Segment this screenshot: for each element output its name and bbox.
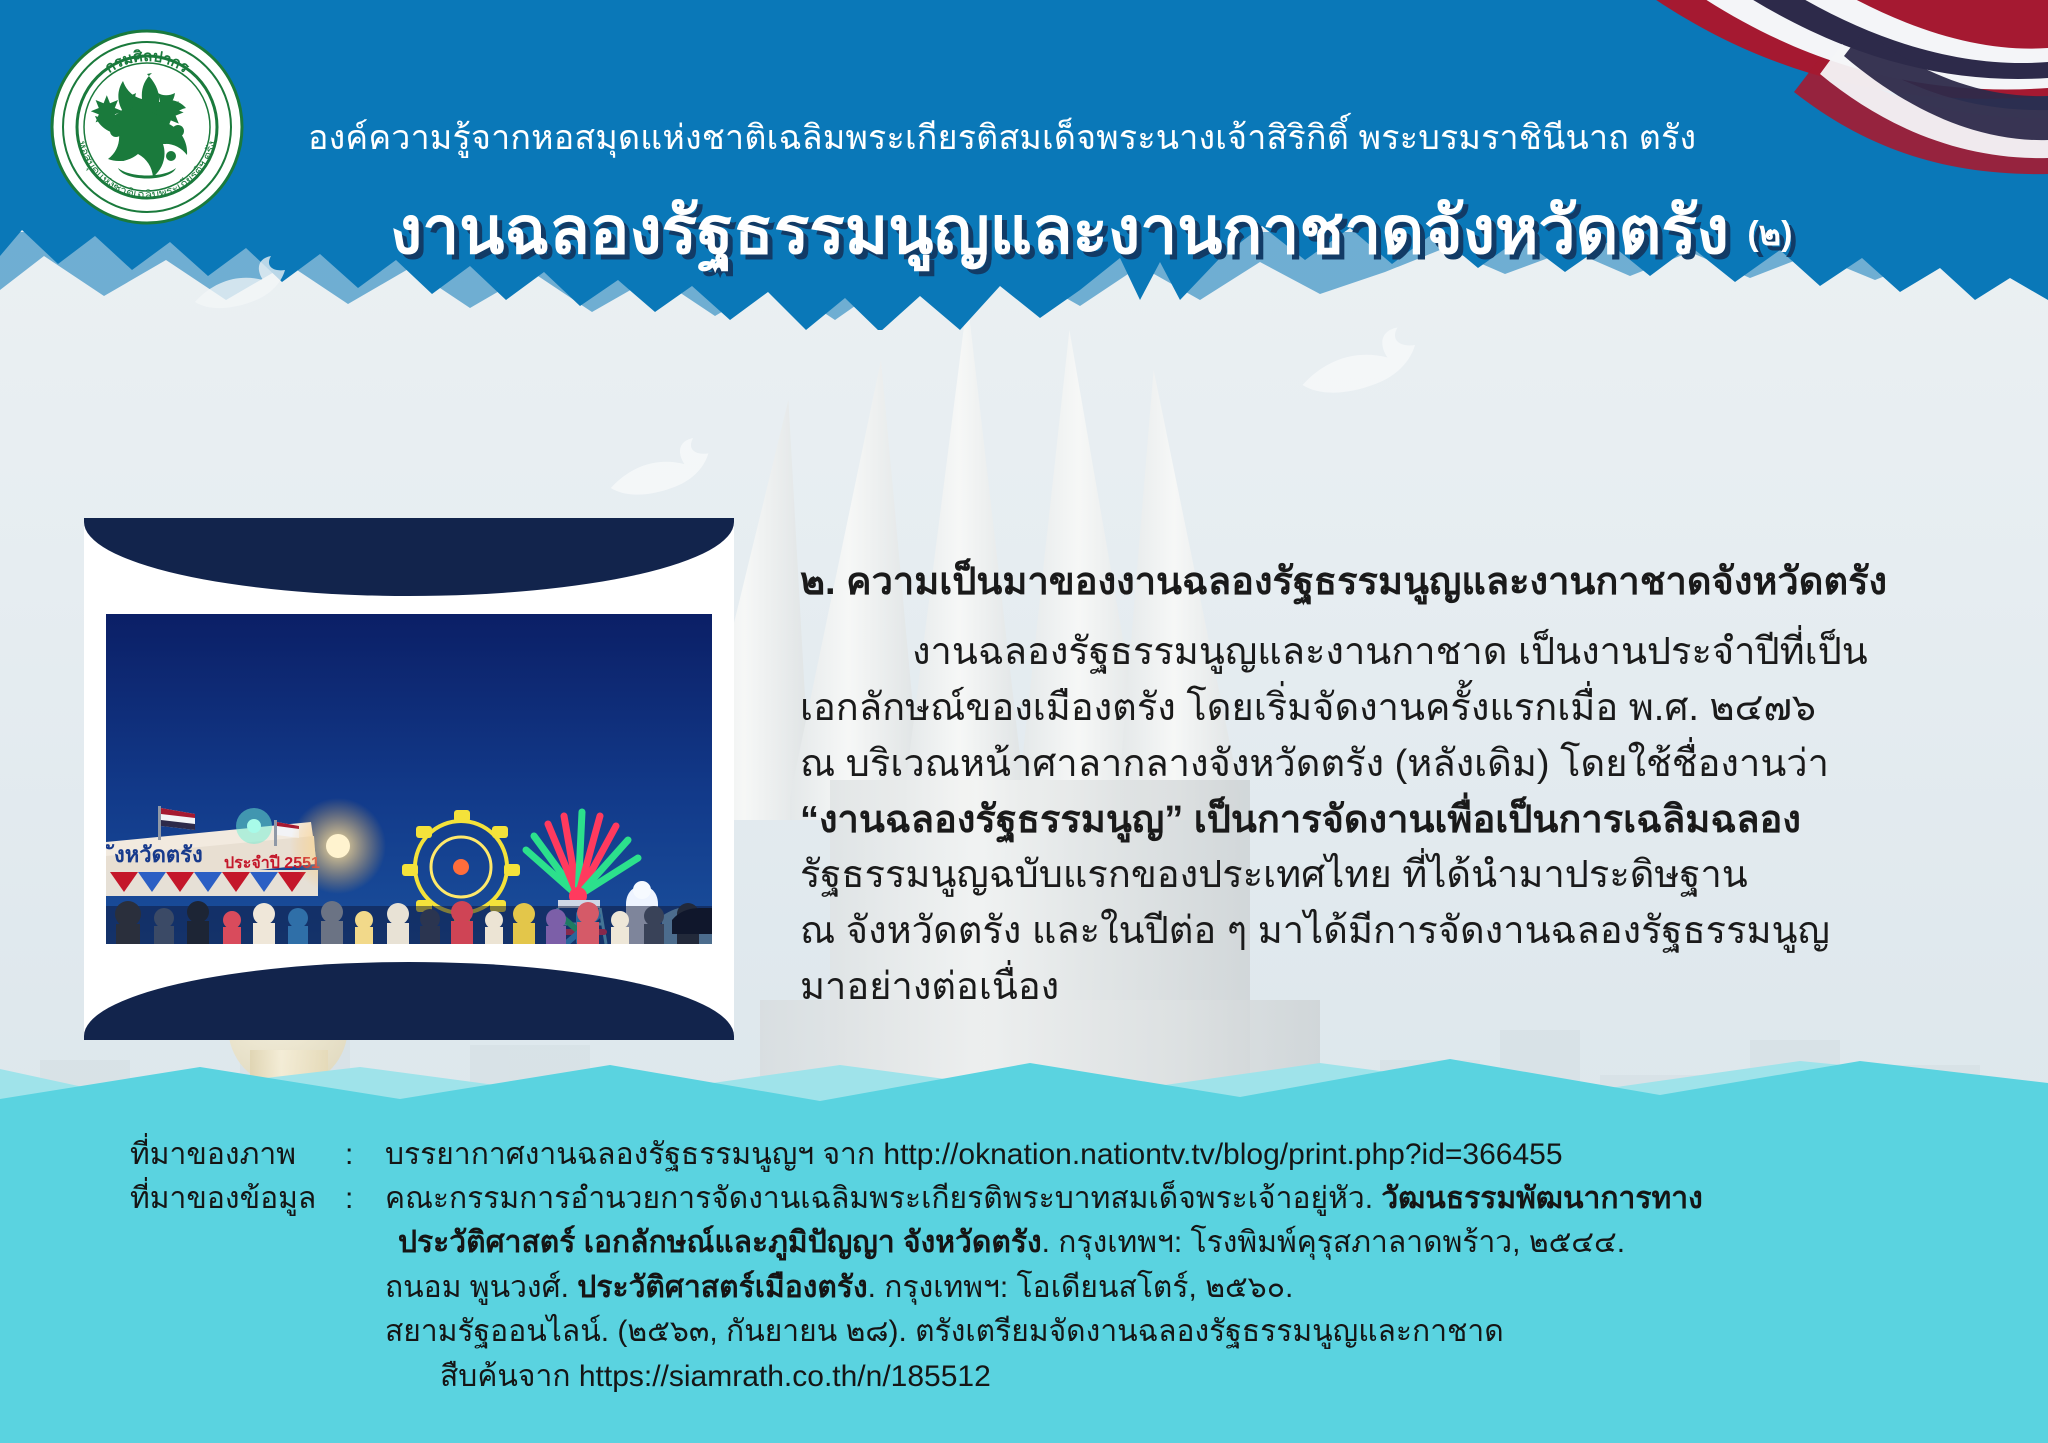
article-line-1: งานฉลองรัฐธรรมนูญและงานกาชาด เป็นงานประจ… — [800, 625, 2000, 681]
dove-icon-right — [1290, 320, 1440, 420]
image-source-value: บรรยากาศงานฉลองรัฐธรรมนูญฯ จาก http://ok… — [385, 1133, 1980, 1177]
dove-icon-middle — [600, 430, 730, 520]
data-source-line3-rest: . กรุงเทพฯ: โอเดียนสโตร์, ๒๕๖๐. — [868, 1271, 1294, 1304]
data-source-line2-rest: . กรุงเทพฯ: โรงพิมพ์คุรุสภาลาดพร้าว, ๒๕๔… — [1042, 1226, 1625, 1259]
data-source-value-bold: วัฒนธรรมพัฒนาการทาง — [1381, 1182, 1702, 1215]
data-source-value-plain: คณะกรรมการอำนวยการจัดงานเฉลิมพระเกียรติพ… — [385, 1182, 1381, 1215]
image-source-label: ที่มาของภาพ — [130, 1133, 345, 1177]
data-source-line4: สยามรัฐออนไลน์. (๒๕๖๓, กันยายน ๒๘). ตรัง… — [130, 1310, 1980, 1354]
page-title: งานฉลองรัฐธรรมนูญและงานกาชาดจังหวัดตรัง … — [390, 178, 1792, 283]
data-source-line3-author: ถนอม พูนวงศ์. — [385, 1271, 577, 1304]
data-source-line3-title: ประวัติศาสตร์เมืองตรัง — [577, 1271, 867, 1304]
data-source-line2-title: ประวัติศาสตร์ เอกลักษณ์และภูมิปัญญา จังห… — [398, 1226, 1042, 1259]
data-source-row: ที่มาของข้อมูล : คณะกรรมการอำนวยการจัดงา… — [130, 1177, 1980, 1221]
photo-card: ังหวัดตรัง ประจำปี 2551 — [84, 518, 734, 1040]
article-line-2: เอกลักษณ์ของเมืองตรัง โดยเริ่มจัดงานครั้… — [800, 681, 2000, 737]
data-source-label: ที่มาของข้อมูล — [130, 1177, 345, 1221]
fine-arts-department-seal: กรมศิลปากร หอสมุดแห่งชาติเฉลิมพระเกียรติ… — [48, 28, 246, 226]
data-source-line3: ถนอม พูนวงศ์. ประวัติศาสตร์เมืองตรัง. กร… — [130, 1266, 1980, 1310]
article-heading: ๒. ความเป็นมาของงานฉลองรัฐธรรมนูญและงานก… — [800, 550, 2000, 611]
article-line-7: มาอย่างต่อเนื่อง — [800, 960, 2000, 1016]
svg-text:ังหวัดตรัง: ังหวัดตรัง — [106, 842, 203, 867]
source-credits: ที่มาของภาพ : บรรยากาศงานฉลองรัฐธรรมนูญฯ… — [130, 1133, 1980, 1399]
poster-canvas: กรมศิลปากร หอสมุดแห่งชาติเฉลิมพระเกียรติ… — [0, 0, 2048, 1443]
data-source-line2: ประวัติศาสตร์ เอกลักษณ์และภูมิปัญญา จังห… — [130, 1221, 1980, 1265]
page-title-part-number: (๒) — [1747, 215, 1792, 253]
article-line-5: รัฐธรรมนูญฉบับแรกของประเทศไทย ที่ได้นำมา… — [800, 848, 2000, 904]
photo-card-bottom-arc — [84, 962, 734, 1040]
article-line-3: ณ บริเวณหน้าศาลากลางจังหวัดตรัง (หลังเดิ… — [800, 737, 2000, 793]
data-source-colon: : — [345, 1177, 385, 1221]
data-source-line5: สืบค้นจาก https://siamrath.co.th/n/18551… — [130, 1355, 1980, 1399]
article-line-6: ณ จังหวัดตรัง และในปีต่อ ๆ มาได้มีการจัด… — [800, 904, 2000, 960]
dove-icon-left — [185, 250, 305, 330]
image-source-row: ที่มาของภาพ : บรรยากาศงานฉลองรัฐธรรมนูญฯ… — [130, 1133, 1980, 1177]
photo-card-top-arc — [84, 518, 734, 596]
image-source-colon: : — [345, 1133, 385, 1177]
page-title-text: งานฉลองรัฐธรรมนูญและงานกาชาดจังหวัดตรัง — [390, 193, 1729, 267]
article-body: ๒. ความเป็นมาของงานฉลองรัฐธรรมนูญและงานก… — [800, 550, 2000, 1016]
data-source-value-line1: คณะกรรมการอำนวยการจัดงานเฉลิมพระเกียรติพ… — [385, 1177, 1980, 1221]
article-line-4-quoted: “งานฉลองรัฐธรรมนูญ” เป็นการจัดงานเพื่อเป… — [800, 799, 1801, 841]
header-subtitle: องค์ความรู้จากหอสมุดแห่งชาติเฉลิมพระเกีย… — [308, 110, 1696, 164]
trang-constitution-fair-night-photo: ังหวัดตรัง ประจำปี 2551 — [106, 614, 712, 944]
article-line-4: “งานฉลองรัฐธรรมนูญ” เป็นการจัดงานเพื่อเป… — [800, 793, 2000, 849]
